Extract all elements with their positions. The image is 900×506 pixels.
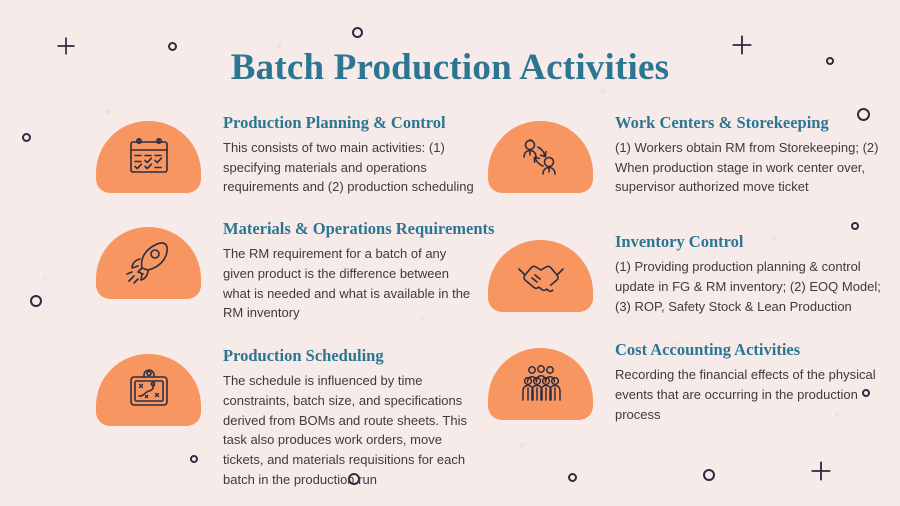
activity-item: Inventory Control(1) Providing productio…	[488, 231, 892, 316]
activity-heading: Production Scheduling	[223, 347, 475, 366]
activity-text: Production Planning & ControlThis consis…	[223, 112, 475, 197]
activity-text: Inventory Control(1) Providing productio…	[615, 231, 887, 316]
activity-item: Materials & Operations RequirementsThe R…	[96, 218, 496, 323]
right-column: Work Centers & Storekeeping(1) Workers o…	[488, 112, 892, 425]
activity-heading: Cost Accounting Activities	[615, 341, 887, 360]
activity-text: Cost Accounting ActivitiesRecording the …	[615, 339, 887, 424]
activity-heading: Inventory Control	[615, 233, 887, 252]
activity-body: Recording the financial effects of the p…	[615, 365, 887, 424]
deco-circle	[568, 473, 577, 482]
activity-body: (1) Workers obtain RM from Storekeeping;…	[615, 138, 887, 197]
activity-text: Materials & Operations RequirementsThe R…	[223, 218, 475, 323]
icon-badge	[96, 354, 201, 426]
activity-text: Work Centers & Storekeeping(1) Workers o…	[615, 112, 887, 197]
activity-item: Production Planning & ControlThis consis…	[96, 112, 496, 197]
activity-body: This consists of two main activities: (1…	[223, 138, 475, 197]
activity-body: The RM requirement for a batch of any gi…	[223, 244, 475, 323]
activity-heading: Work Centers & Storekeeping	[615, 114, 887, 133]
icon-badge	[488, 240, 593, 312]
activity-heading: Production Planning & Control	[223, 114, 475, 133]
left-column: Production Planning & ControlThis consis…	[96, 112, 496, 490]
deco-circle	[352, 27, 363, 38]
people-exchange-icon	[516, 135, 566, 179]
group-of-people-icon	[516, 362, 566, 406]
deco-circle	[22, 133, 31, 142]
page-title: Batch Production Activities	[0, 46, 900, 89]
activity-body: The schedule is influenced by time const…	[223, 371, 475, 490]
icon-badge	[96, 121, 201, 193]
icon-badge	[488, 121, 593, 193]
clipboard-strategy-icon	[125, 368, 173, 412]
activity-item: Production SchedulingThe schedule is inf…	[96, 345, 496, 489]
icon-badge	[96, 227, 201, 299]
deco-plus	[810, 460, 832, 482]
activity-text: Production SchedulingThe schedule is inf…	[223, 345, 475, 489]
icon-badge	[488, 348, 593, 420]
deco-circle	[30, 295, 42, 307]
deco-circle	[703, 469, 715, 481]
handshake-icon	[515, 254, 567, 298]
activity-item: Cost Accounting ActivitiesRecording the …	[488, 339, 892, 424]
activity-heading: Materials & Operations Requirements	[223, 220, 475, 239]
rocket-icon	[124, 240, 174, 286]
activity-item: Work Centers & Storekeeping(1) Workers o…	[488, 112, 892, 197]
activity-body: (1) Providing production planning & cont…	[615, 257, 887, 316]
calendar-checklist-icon	[126, 136, 172, 178]
